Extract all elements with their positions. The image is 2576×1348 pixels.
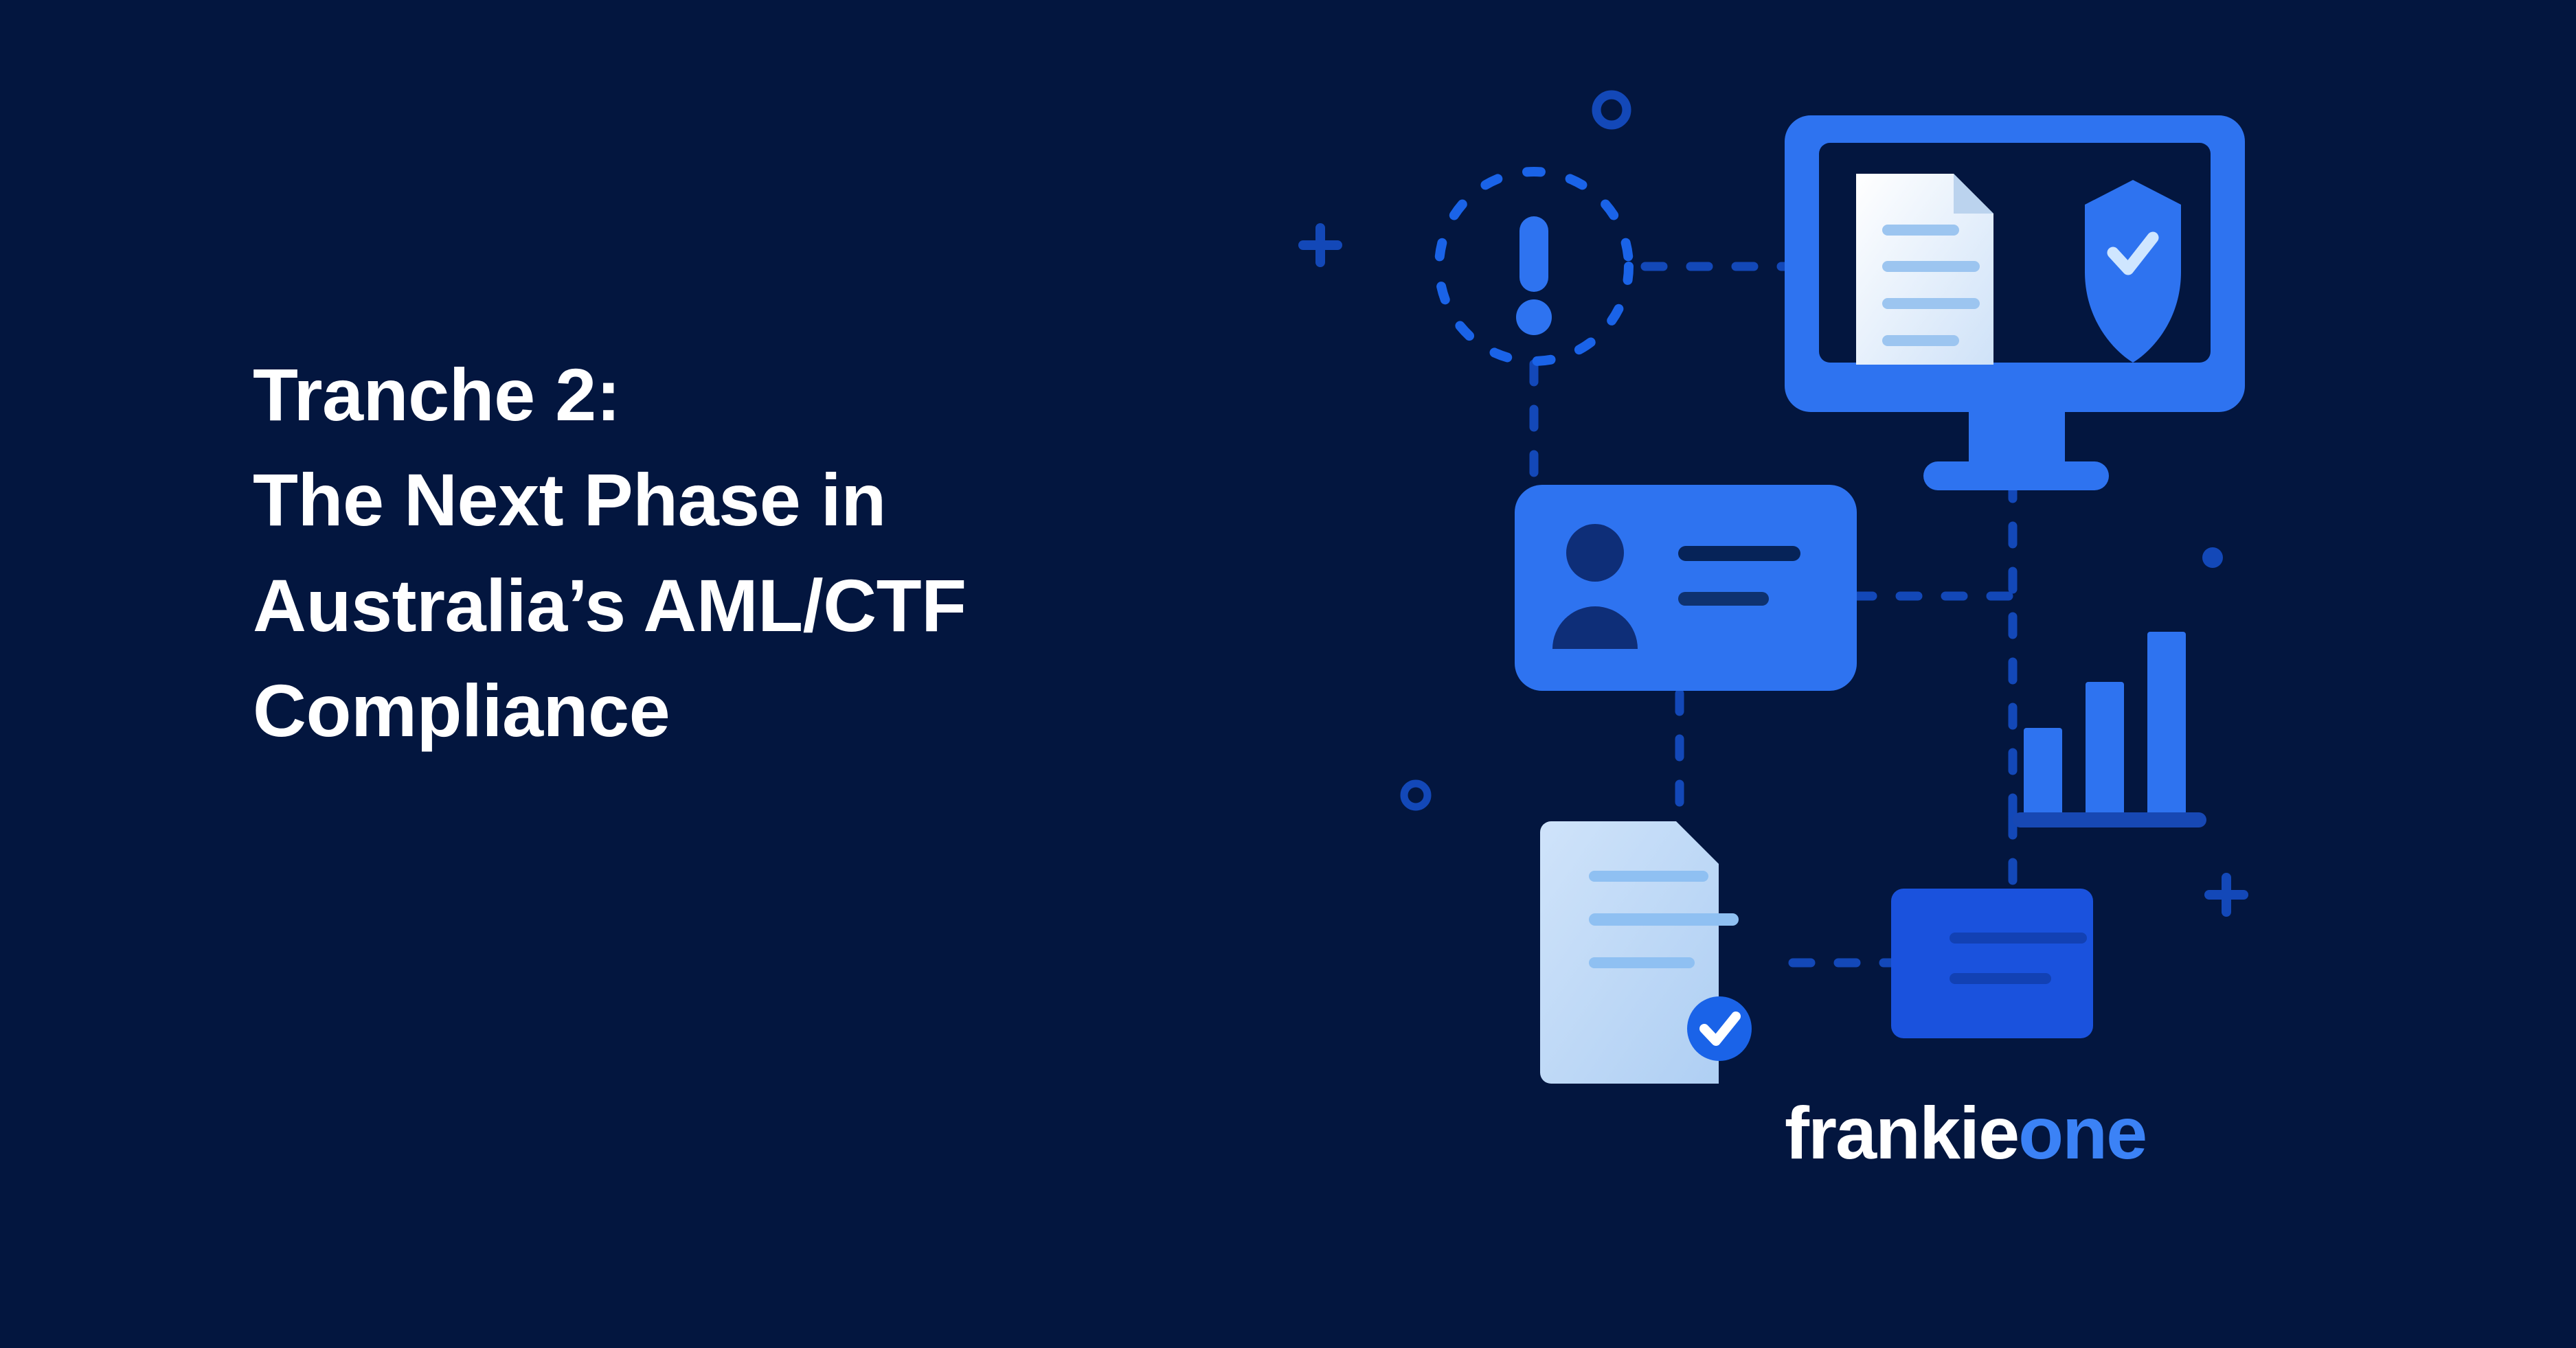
ring-top-icon	[1596, 95, 1627, 125]
monitor-screen	[1819, 143, 2211, 363]
shield-icon	[2085, 180, 2181, 363]
id-card-line-2	[1678, 592, 1769, 606]
frankieone-logo: frankieone	[1785, 1096, 2146, 1170]
avatar-body-icon	[1552, 606, 1638, 649]
alert-badge	[1439, 172, 1629, 361]
shield-check-icon	[2113, 238, 2153, 269]
banner-canvas: Tranche 2: The Next Phase in Australia’s…	[0, 0, 2576, 1348]
dot-right-icon	[2202, 547, 2223, 568]
headline-line-1: Tranche 2:	[253, 342, 1462, 447]
plus-mark-left	[1303, 228, 1337, 262]
dashed-circle-icon	[1439, 172, 1629, 361]
plus-mark-right	[2209, 878, 2244, 912]
logo-word-frankie: frankie	[1785, 1091, 2018, 1174]
screen-document-fold	[1954, 174, 1993, 214]
screen-document-lines	[1882, 225, 1980, 346]
monitor-stand-base	[1923, 461, 2109, 490]
monitor-document-shield	[1785, 115, 2245, 490]
headline-line-3: Australia’s AML/CTF	[253, 553, 1462, 658]
screen-document-icon	[1856, 174, 1993, 365]
connector-lines	[1534, 266, 2013, 975]
document-check-badge	[1687, 996, 1752, 1061]
bar-chart-baseline	[2013, 812, 2206, 827]
document-body-icon	[1540, 821, 1719, 1084]
bar-2	[2086, 682, 2124, 816]
info-card-line-1	[1950, 933, 2087, 944]
headline-line-4: Compliance	[253, 658, 1462, 763]
id-card-line-1	[1678, 546, 1800, 561]
verified-document	[1540, 821, 1752, 1084]
logo-word-one: one	[2018, 1091, 2146, 1174]
id-card-body	[1515, 485, 1857, 691]
info-card-line-2	[1950, 973, 2051, 984]
avatar-head-icon	[1566, 524, 1624, 582]
ring-mid-left-icon	[1404, 784, 1427, 807]
bar-chart	[2013, 632, 2206, 827]
document-check-icon	[1704, 1016, 1736, 1041]
exclamation-bar-icon	[1519, 216, 1548, 292]
monitor-stand-neck	[1969, 408, 2065, 471]
info-card	[1891, 889, 2093, 1038]
monitor-bezel	[1785, 115, 2245, 412]
bar-1	[2024, 728, 2062, 816]
document-text-lines	[1589, 871, 1739, 968]
headline-line-2: The Next Phase in	[253, 447, 1462, 552]
page-title: Tranche 2: The Next Phase in Australia’s…	[253, 342, 1462, 763]
id-card	[1515, 485, 1857, 691]
bar-3	[2147, 632, 2186, 816]
exclamation-dot-icon	[1516, 299, 1552, 335]
info-card-body	[1891, 889, 2093, 1038]
